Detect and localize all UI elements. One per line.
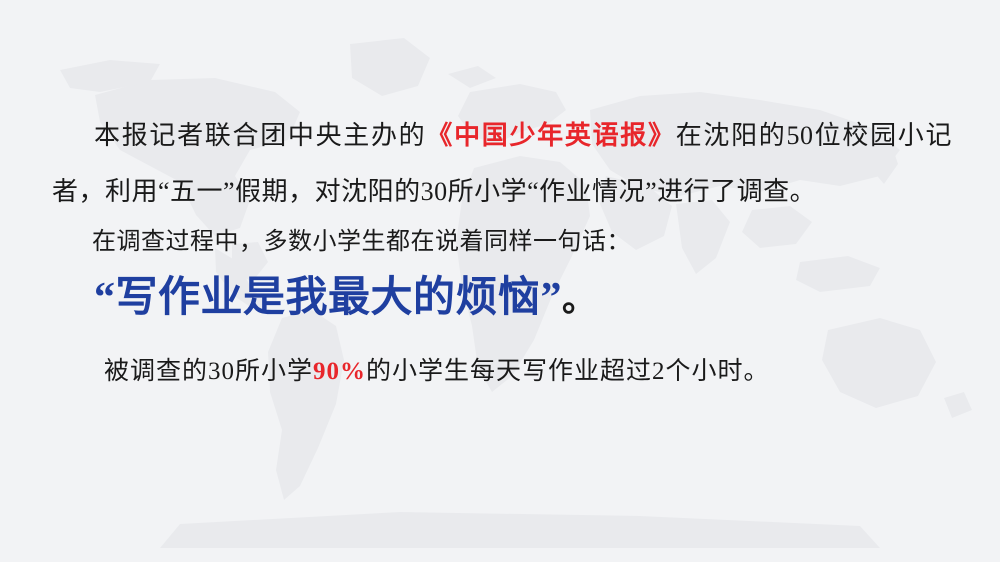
slide-content: 本报记者联合团中央主办的《中国少年英语报》在沈阳的50位校园小记者，利用“五一”… <box>0 0 1000 562</box>
paragraph-3: 被调查的30所小学90%的小学生每天写作业超过2个小时。 <box>52 352 1000 392</box>
slide-root: 本报记者联合团中央主办的《中国少年英语报》在沈阳的50位校园小记者，利用“五一”… <box>0 0 1000 562</box>
quote-text: “写作业是我最大的烦恼” <box>94 275 562 321</box>
quote-line: “写作业是我最大的烦恼”。 <box>52 270 994 329</box>
paragraph-3-part-b: 的小学生每天写作业超过2个小时。 <box>366 358 770 385</box>
percent-highlight: 90% <box>313 358 366 385</box>
paragraph-1-part-a: 本报记者联合团中央主办的 <box>52 121 426 150</box>
newspaper-title-highlight: 《中国少年英语报》 <box>426 121 675 150</box>
paragraph-1: 本报记者联合团中央主办的《中国少年英语报》在沈阳的50位校园小记者，利用“五一”… <box>52 108 952 220</box>
paragraph-2: 在调查过程中，多数小学生都在说着同样一句话： <box>52 222 992 262</box>
paragraph-3-part-a: 被调查的30所小学 <box>104 358 313 385</box>
quote-period: 。 <box>562 282 597 319</box>
